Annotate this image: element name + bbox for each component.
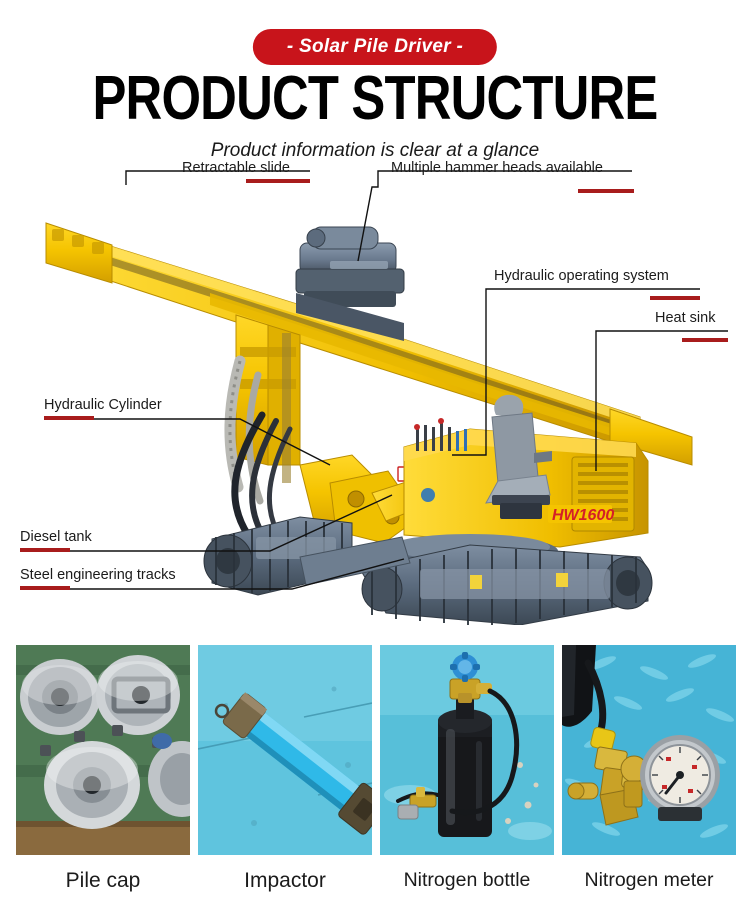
- page-header: - Solar Pile Driver - PRODUCT STRUCTURE …: [0, 0, 750, 172]
- machine-illustration: HW1600: [0, 165, 750, 625]
- product-photo-impactor: [198, 645, 372, 855]
- product-caption-impactor: Impactor: [198, 869, 372, 893]
- callout-label-retractable-slide: Retractable slide: [182, 160, 290, 176]
- product-caption-pile-cap: Pile cap: [16, 869, 190, 893]
- product-card-pile-cap[interactable]: Pile cap: [16, 645, 190, 893]
- page-title: PRODUCT STRUCTURE: [68, 68, 683, 130]
- callout-accent-hydraulic-cylinder: [44, 416, 94, 420]
- product-photo-strip: Pile cap: [0, 645, 750, 912]
- leader-hammer-heads: [358, 171, 632, 261]
- callout-label-diesel-tank: Diesel tank: [20, 529, 92, 545]
- svg-text:HW1600: HW1600: [552, 507, 614, 524]
- pressure-gauge-dial: [640, 735, 720, 815]
- machine-diagram: HW1600: [0, 165, 750, 625]
- product-caption-nitrogen-meter: Nitrogen meter: [562, 869, 736, 892]
- page-subtitle: Product information is clear at a glance: [0, 140, 750, 162]
- product-caption-nitrogen-bottle: Nitrogen bottle: [380, 869, 554, 892]
- callout-label-hydraulic-operating: Hydraulic operating system: [494, 268, 669, 284]
- callout-accent-heat-sink: [682, 338, 728, 342]
- callout-accent-hydraulic-operating: [650, 296, 700, 300]
- callout-label-hydraulic-cylinder: Hydraulic Cylinder: [44, 397, 162, 413]
- product-photo-nitrogen-meter: [562, 645, 736, 855]
- callout-accent-hammer-heads: [578, 189, 634, 193]
- model-decal: HW1600: [548, 505, 614, 524]
- product-card-nitrogen-meter[interactable]: Nitrogen meter: [562, 645, 736, 892]
- mast-support-frame: [236, 315, 300, 483]
- callout-accent-diesel-tank: [20, 548, 70, 552]
- product-photo-nitrogen-bottle: [380, 645, 554, 855]
- callout-accent-retractable-slide: [246, 179, 310, 183]
- callout-label-steel-tracks: Steel engineering tracks: [20, 567, 176, 583]
- product-card-impactor[interactable]: Impactor: [198, 645, 372, 893]
- callout-label-heat-sink: Heat sink: [655, 310, 715, 326]
- callout-label-hammer-heads: Multiple hammer heads available: [391, 160, 603, 176]
- product-card-nitrogen-bottle[interactable]: Nitrogen bottle: [380, 645, 554, 892]
- product-photo-pile-cap: [16, 645, 190, 855]
- callout-accent-steel-tracks: [20, 586, 70, 590]
- product-category-badge: - Solar Pile Driver -: [253, 29, 497, 65]
